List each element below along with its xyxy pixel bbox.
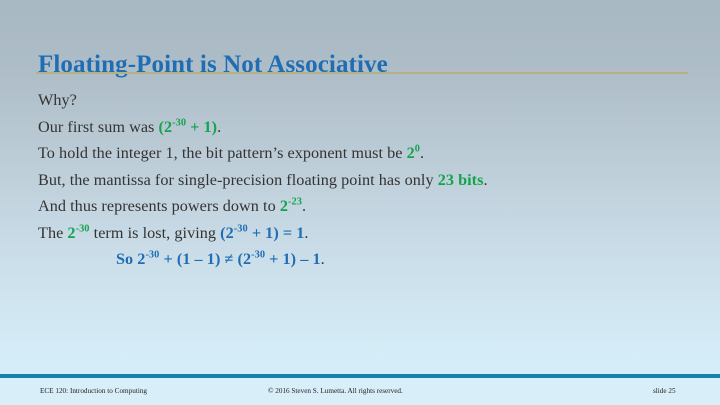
term-lost-middle: term is lost, giving (90, 224, 221, 242)
first-sum-suffix: . (217, 118, 221, 136)
term-lost-expression-blue: (2-30 + 1) = 1 (220, 224, 304, 242)
first-sum-prefix: Our first sum was (38, 118, 159, 136)
conclusion-suffix: . (321, 250, 325, 268)
conclusion-part-a: So 2 (116, 250, 145, 268)
footer-slide-number: slide 25 (653, 387, 676, 395)
powers-down-expression: 2-23 (280, 197, 302, 215)
first-sum-tail: + 1) (186, 118, 217, 136)
integer-exponent-suffix: . (420, 144, 424, 162)
slide-body: Why? Our first sum was (2-30 + 1). To ho… (38, 92, 498, 278)
conclusion-expression: So 2-30 + (1 – 1) ≠ (2-30 + 1) – 1 (116, 250, 321, 268)
term-lost-base: 2 (67, 224, 75, 242)
term-lost-suffix: . (304, 224, 308, 242)
conclusion-part-c: + 1) – 1 (265, 250, 321, 268)
integer-exponent-prefix: To hold the integer 1, the bit pattern’s… (38, 144, 407, 162)
powers-down-base: 2 (280, 197, 288, 215)
powers-down-prefix: And thus represents powers down to (38, 197, 280, 215)
term-lost-result-tail: + 1) = 1 (248, 224, 305, 242)
body-line-conclusion: So 2-30 + (1 – 1) ≠ (2-30 + 1) – 1. (116, 251, 498, 269)
conclusion-exponent-b: -30 (251, 250, 265, 261)
slide-canvas: Floating-Point is Not Associative Why? O… (0, 0, 720, 405)
term-lost-exponent: -30 (76, 223, 90, 234)
page-title: Floating-Point is Not Associative (38, 50, 688, 80)
mantissa-bits-highlight: 23 bits (438, 171, 484, 189)
integer-exponent-expression: 20 (407, 144, 420, 162)
body-line-why-text: Why? (38, 91, 77, 109)
powers-down-suffix: . (302, 197, 306, 215)
footer-divider (0, 374, 720, 378)
body-line-powers-down: And thus represents powers down to 2-23. (38, 198, 498, 216)
first-sum-exponent: -30 (172, 117, 186, 128)
term-lost-result-exponent: -30 (234, 223, 248, 234)
term-lost-prefix: The (38, 224, 67, 242)
first-sum-expression: (2-30 + 1) (159, 118, 218, 136)
body-line-first-sum: Our first sum was (2-30 + 1). (38, 119, 498, 137)
mantissa-suffix: . (483, 171, 487, 189)
conclusion-part-b: + (1 – 1) ≠ (2 (159, 250, 251, 268)
body-line-mantissa: But, the mantissa for single-precision f… (38, 172, 498, 190)
body-line-why: Why? (38, 92, 498, 110)
term-lost-result-base: (2 (220, 224, 234, 242)
footer-copyright-label: © 2016 Steven S. Lumetta. All rights res… (268, 387, 403, 395)
integer-exponent-base: 2 (407, 144, 415, 162)
body-line-term-lost: The 2-30 term is lost, giving (2-30 + 1)… (38, 225, 498, 243)
term-lost-expression-green: 2-30 (67, 224, 89, 242)
body-line-integer-exponent: To hold the integer 1, the bit pattern’s… (38, 145, 498, 163)
first-sum-base: (2 (159, 118, 173, 136)
mantissa-prefix: But, the mantissa for single-precision f… (38, 171, 438, 189)
powers-down-exponent: -23 (288, 197, 302, 208)
conclusion-exponent-a: -30 (145, 250, 159, 261)
footer-course-label: ECE 120: Introduction to Computing (40, 387, 147, 395)
title-divider (36, 72, 688, 74)
